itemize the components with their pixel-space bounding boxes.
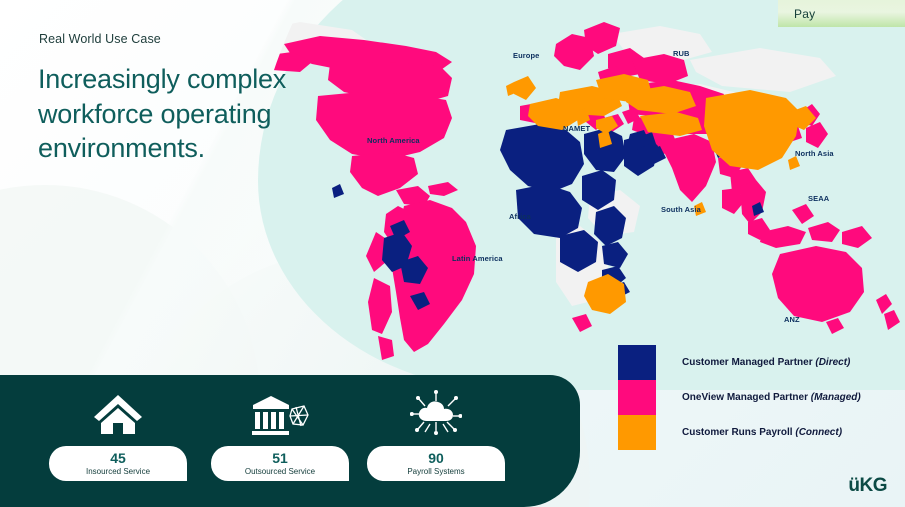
world-map: North America Latin America Europe NAMET… bbox=[0, 0, 905, 400]
stat-card-payroll-systems[interactable]: 90 Payroll Systems bbox=[367, 446, 505, 481]
legend-label-managed: OneView Managed Partner (Managed) bbox=[682, 392, 861, 403]
stat-payroll-systems bbox=[367, 388, 505, 440]
stat-insourced bbox=[49, 388, 187, 440]
map-label-latin-america: Latin America bbox=[452, 254, 503, 263]
map-label-north-america: North America bbox=[367, 136, 420, 145]
stat-value-payroll-systems: 90 bbox=[428, 451, 444, 465]
ukg-logo: üKG bbox=[848, 475, 887, 497]
cloud-network-icon bbox=[367, 388, 505, 440]
tab-pay-label: Pay bbox=[794, 7, 815, 21]
stat-label-outsourced: Outsourced Service bbox=[245, 468, 315, 476]
stat-card-insourced[interactable]: 45 Insourced Service bbox=[49, 446, 187, 481]
bank-icon bbox=[211, 388, 349, 440]
legend-item-managed: OneView Managed Partner (Managed) bbox=[618, 380, 861, 415]
legend-swatch-managed bbox=[618, 380, 656, 415]
stat-value-outsourced: 51 bbox=[272, 451, 288, 465]
legend-label-connect-note: (Connect) bbox=[795, 427, 842, 438]
slide-canvas: North America Latin America Europe NAMET… bbox=[0, 0, 905, 507]
legend-label-connect-main: Customer Runs Payroll bbox=[682, 427, 795, 438]
stat-card-outsourced[interactable]: 51 Outsourced Service bbox=[211, 446, 349, 481]
map-label-namet: NAMET bbox=[563, 124, 590, 133]
map-legend: Customer Managed Partner (Direct) OneVie… bbox=[618, 345, 861, 450]
tab-pay[interactable]: Pay bbox=[778, 0, 905, 27]
stat-label-insourced: Insourced Service bbox=[86, 468, 150, 476]
eyebrow-text: Real World Use Case bbox=[39, 32, 161, 46]
legend-label-direct-main: Customer Managed Partner bbox=[682, 357, 815, 368]
map-label-south-asia: South Asia bbox=[661, 205, 701, 214]
map-label-anz: ANZ bbox=[784, 315, 800, 324]
map-label-seaa: SEAA bbox=[808, 194, 829, 203]
legend-label-managed-note: (Managed) bbox=[811, 392, 861, 403]
legend-item-connect: Customer Runs Payroll (Connect) bbox=[618, 415, 861, 450]
legend-label-direct: Customer Managed Partner (Direct) bbox=[682, 357, 850, 368]
legend-label-connect: Customer Runs Payroll (Connect) bbox=[682, 427, 842, 438]
stat-outsourced bbox=[211, 388, 349, 440]
legend-item-direct: Customer Managed Partner (Direct) bbox=[618, 345, 861, 380]
map-label-north-asia: North Asia bbox=[795, 149, 834, 158]
legend-swatch-connect bbox=[618, 415, 656, 450]
map-label-europe: Europe bbox=[513, 51, 539, 60]
stat-label-payroll-systems: Payroll Systems bbox=[407, 468, 464, 476]
house-icon bbox=[49, 388, 187, 440]
legend-label-managed-main: OneView Managed Partner bbox=[682, 392, 811, 403]
map-label-rub: RUB bbox=[673, 49, 690, 58]
legend-swatch-direct bbox=[618, 345, 656, 380]
legend-label-direct-note: (Direct) bbox=[815, 357, 850, 368]
page-title: Increasingly complex workforce operating… bbox=[38, 62, 338, 166]
map-label-africa: Africa bbox=[509, 212, 531, 221]
stat-value-insourced: 45 bbox=[110, 451, 126, 465]
